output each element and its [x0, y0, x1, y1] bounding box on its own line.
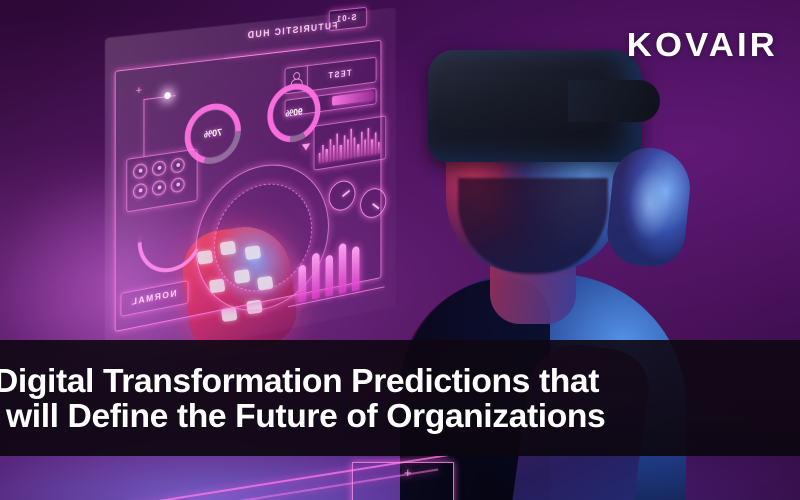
headline-line-1: Digital Transformation Predictions that — [0, 363, 800, 398]
banner-image: FUTURISTIC HUD TEST S-01 70% 90% — [0, 0, 800, 500]
keypad-button[interactable] — [133, 163, 147, 180]
hud-pointer-icon — [302, 143, 310, 151]
gauge-value-90: 90% — [267, 80, 320, 145]
floor-plus-icon: + — [404, 466, 412, 479]
hud-connector-v — [143, 99, 144, 156]
kovair-logo[interactable]: KOVAIR — [627, 26, 778, 64]
keypad-button[interactable] — [152, 160, 166, 177]
hud-level-meter — [298, 227, 359, 302]
headline-line-2: will Define the Future of Organizations — [6, 398, 800, 433]
keypad-button[interactable] — [171, 157, 185, 174]
plus-icon: + — [136, 85, 142, 97]
vr-headset-strap — [568, 80, 660, 122]
keypad-button[interactable] — [133, 182, 147, 199]
keypad-button[interactable] — [152, 180, 166, 197]
floor-hud-frame — [352, 462, 454, 500]
right-hand-highlight — [622, 156, 678, 252]
hud-gauge-90: 90% — [267, 80, 320, 145]
headline-text-block: Digital Transformation Predictions that … — [0, 340, 800, 456]
holographic-hud-panel: FUTURISTIC HUD TEST S-01 70% 90% — [105, 7, 396, 368]
keypad-button[interactable] — [171, 177, 185, 194]
